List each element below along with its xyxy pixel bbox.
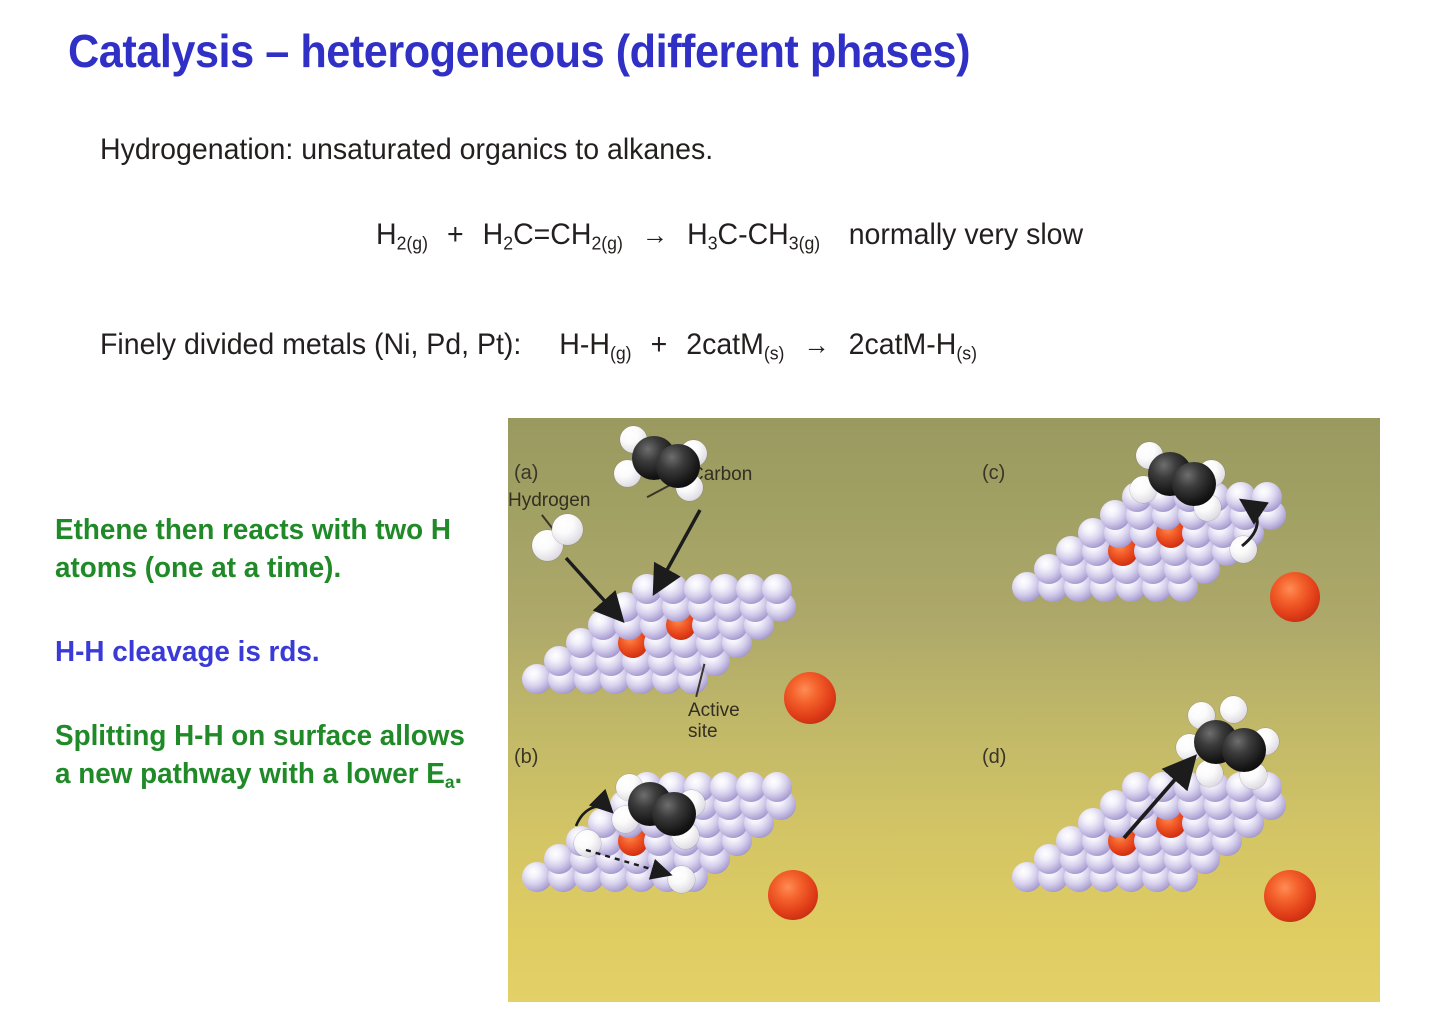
eq2-product: 2catM-H — [849, 328, 957, 361]
eq2-reactant-a: H-H — [559, 328, 610, 361]
eq1-reactant-b-state: (g) — [601, 233, 623, 254]
intro-text: Hydrogenation: unsaturated organics to a… — [100, 133, 713, 167]
note-splitting-pathway: Splitting H-H on surface allows a new pa… — [55, 718, 468, 794]
adsorption-arrow-h2 — [508, 418, 944, 718]
eq2-arrow-icon: → — [803, 329, 829, 360]
eq1-product-2: C-CH — [718, 218, 789, 251]
eq2-plus: + — [651, 328, 668, 361]
eq2-product-state: (s) — [956, 343, 977, 364]
eq1-reactant-a-state: (g) — [406, 233, 428, 254]
eq1-reactant-b-1-sub: 2 — [503, 233, 513, 254]
equation-one: H2(g)+H2C=CH2(g)→H3C-CH3(g)normally very… — [376, 218, 1083, 255]
eq2-reactant-a-state: (g) — [610, 343, 632, 364]
eq1-product-2-sub: 3 — [789, 233, 799, 254]
hydrogen-migration-arrows-b — [508, 718, 944, 1002]
figure-panel-c: (c) — [944, 418, 1380, 718]
eq1-reactant-b-1: H — [483, 218, 504, 251]
eq1-reactant-a-sub: 2 — [397, 233, 407, 254]
eq1-product-1-sub: 3 — [708, 233, 718, 254]
eq1-arrow-icon: → — [642, 219, 668, 250]
note-ethene-reacts: Ethene then reacts with two H atoms (one… — [55, 512, 468, 587]
page-title: Catalysis – heterogeneous (different pha… — [68, 24, 1290, 78]
desorption-arrow-d — [944, 718, 1380, 1002]
eq2-reactant-b-state: (s) — [764, 343, 785, 364]
eq1-product-state: (g) — [799, 233, 821, 254]
eq1-reactant-b-2-sub: 2 — [591, 233, 601, 254]
note-3-period: . — [454, 758, 462, 790]
catalysis-mechanism-figure: (a) Hydrogen Carbon — [508, 418, 1380, 1002]
eq1-reactant-b-2: C=CH — [513, 218, 591, 251]
figure-panel-d: (d) — [944, 718, 1380, 1002]
note-3-sub: a — [445, 772, 455, 792]
figure-panel-b: (b) Active site — [508, 718, 944, 1002]
equation-two: Finely divided metals (Ni, Pd, Pt):H-H(g… — [100, 328, 977, 365]
figure-panel-a: (a) Hydrogen Carbon — [508, 418, 944, 718]
eq1-product-1: H — [687, 218, 708, 251]
eq1-plus: + — [447, 218, 464, 251]
eq2-prefix: Finely divided metals (Ni, Pd, Pt): — [100, 328, 521, 361]
eq1-reactant-a: H — [376, 218, 397, 251]
hydrogen-transfer-arrow-c — [944, 418, 1380, 702]
eq2-reactant-b: 2catM — [686, 328, 764, 361]
eq1-comment: normally very slow — [849, 218, 1083, 251]
note-3-text: Splitting H-H on surface allows a new pa… — [55, 720, 465, 790]
note-hh-cleavage: H-H cleavage is rds. — [55, 634, 468, 672]
